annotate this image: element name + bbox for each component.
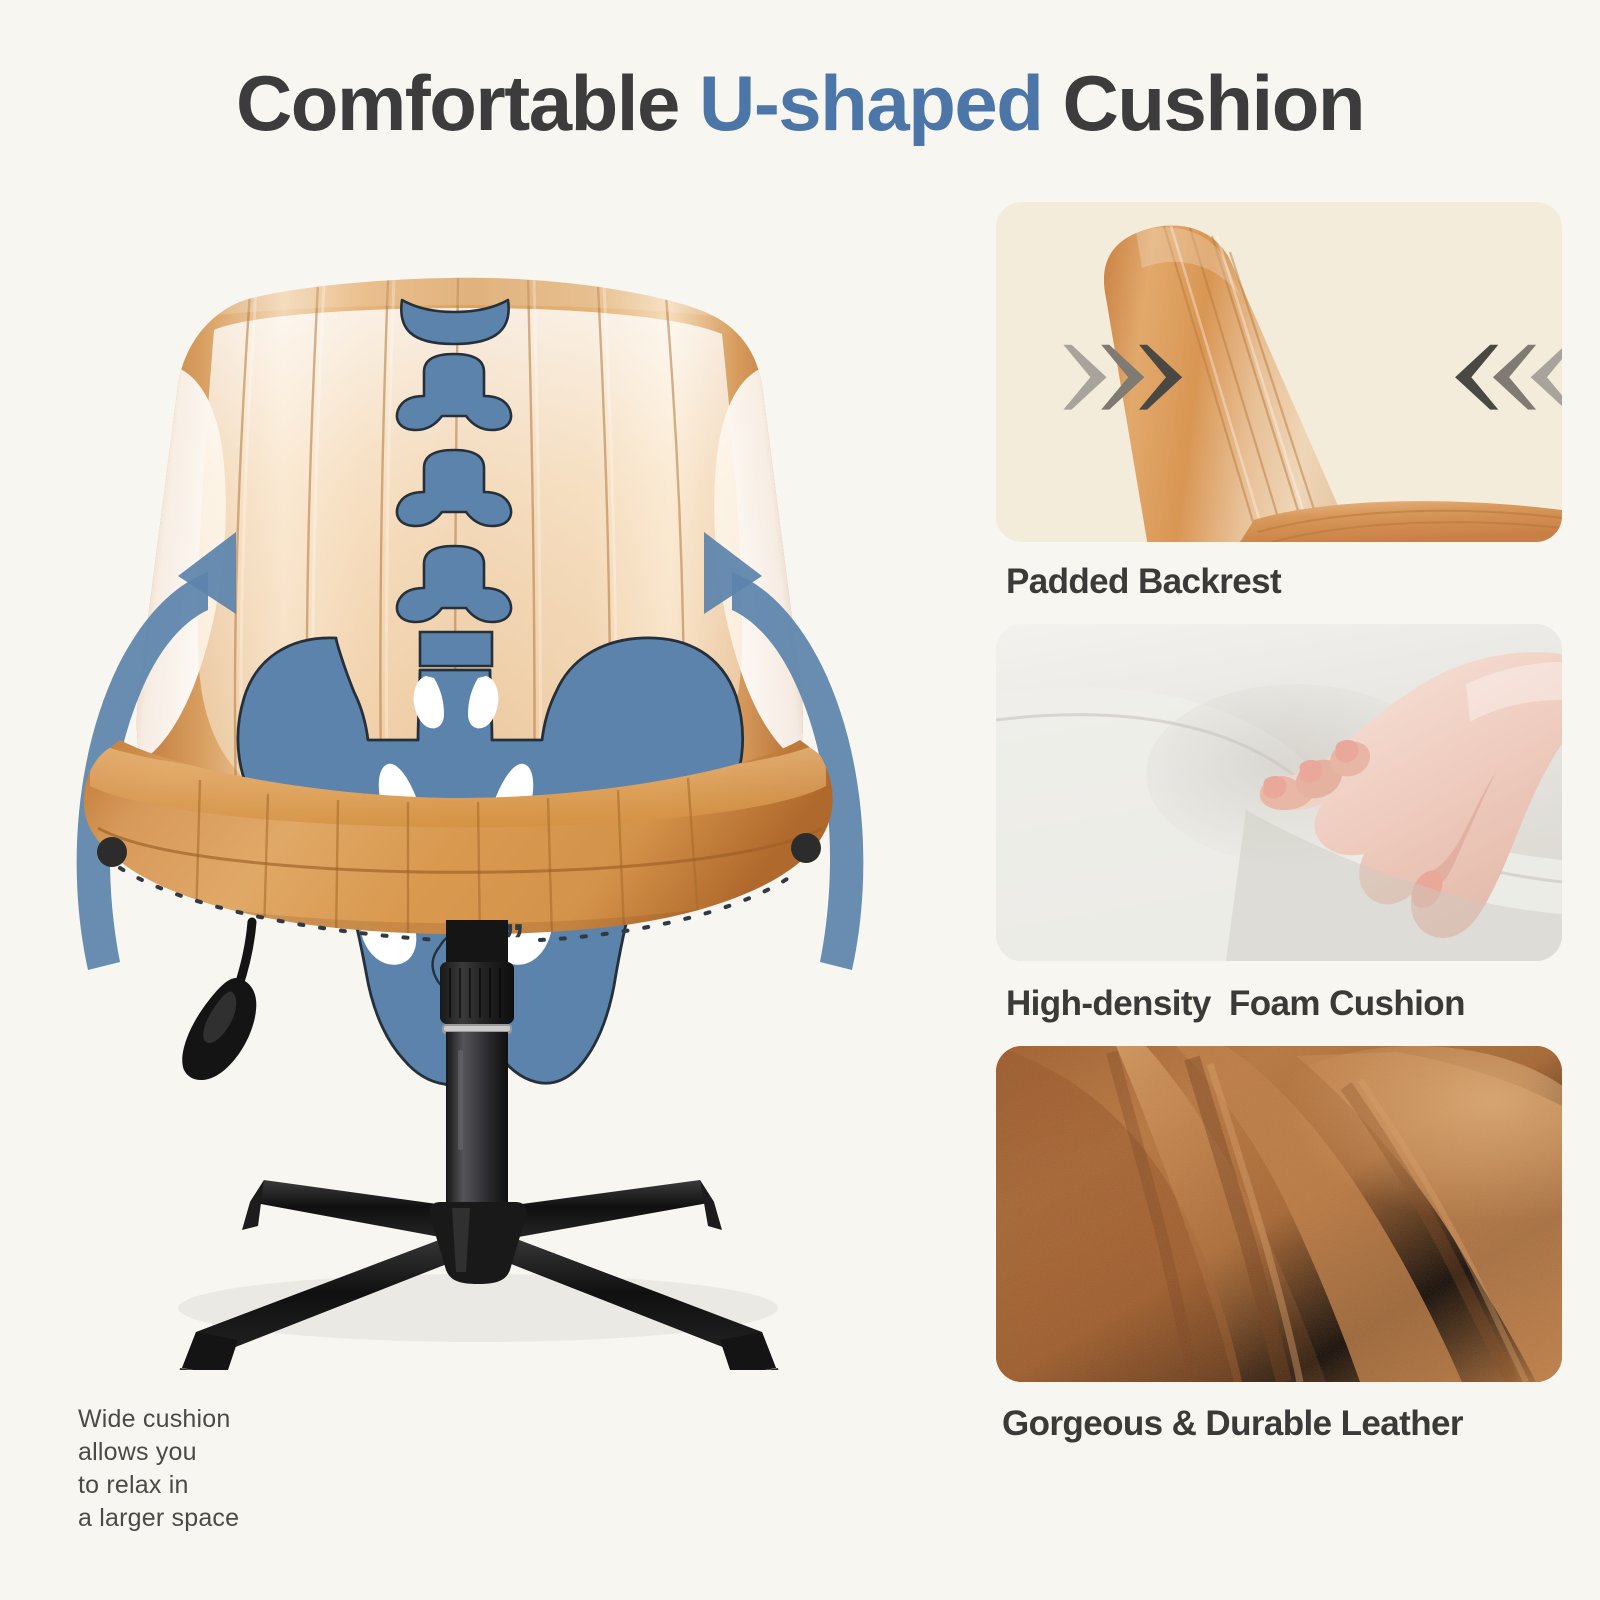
wide-cushion-note: Wide cushion allows you to relax in a la… bbox=[78, 1403, 239, 1535]
gas-cylinder bbox=[440, 920, 514, 1220]
page-title-part1: Comfortable bbox=[236, 59, 699, 147]
leather-texture-image bbox=[996, 1046, 1562, 1382]
seat-rivet-right bbox=[791, 833, 821, 863]
page-title-part3: Cushion bbox=[1042, 59, 1364, 147]
foam-cushion-image bbox=[996, 624, 1562, 961]
page-title: Comfortable U-shaped Cushion bbox=[0, 58, 1600, 149]
feature-card-padded-backrest[interactable]: Padded Backrest bbox=[996, 202, 1562, 602]
feature-card-leather[interactable]: Gorgeous & Durable Leather bbox=[996, 1046, 1562, 1444]
note-line-1: Wide cushion bbox=[78, 1403, 239, 1436]
hero-chair-stage: 26” bbox=[0, 180, 920, 1370]
feature-card-list: Padded Backrest bbox=[996, 202, 1562, 1466]
chair-base bbox=[178, 1180, 780, 1370]
feature-caption-padded-backrest: Padded Backrest bbox=[1006, 562, 1562, 602]
note-line-3: to relax in bbox=[78, 1469, 239, 1502]
page-title-accent: U-shaped bbox=[699, 59, 1042, 147]
chair-illustration: 26” bbox=[0, 180, 920, 1370]
note-line-4: a larger space bbox=[78, 1502, 239, 1535]
feature-caption-leather: Gorgeous & Durable Leather bbox=[1002, 1404, 1562, 1444]
feature-caption-foam-cushion: High-density Foam Cushion bbox=[1006, 984, 1562, 1024]
padded-backrest-image bbox=[996, 202, 1562, 542]
seat-rivet-left bbox=[97, 837, 127, 867]
note-line-2: allows you bbox=[78, 1436, 239, 1469]
feature-card-foam-cushion[interactable]: High-density Foam Cushion bbox=[996, 624, 1562, 1024]
height-adjust-lever bbox=[182, 922, 256, 1080]
cylinder-collar bbox=[440, 962, 514, 1024]
